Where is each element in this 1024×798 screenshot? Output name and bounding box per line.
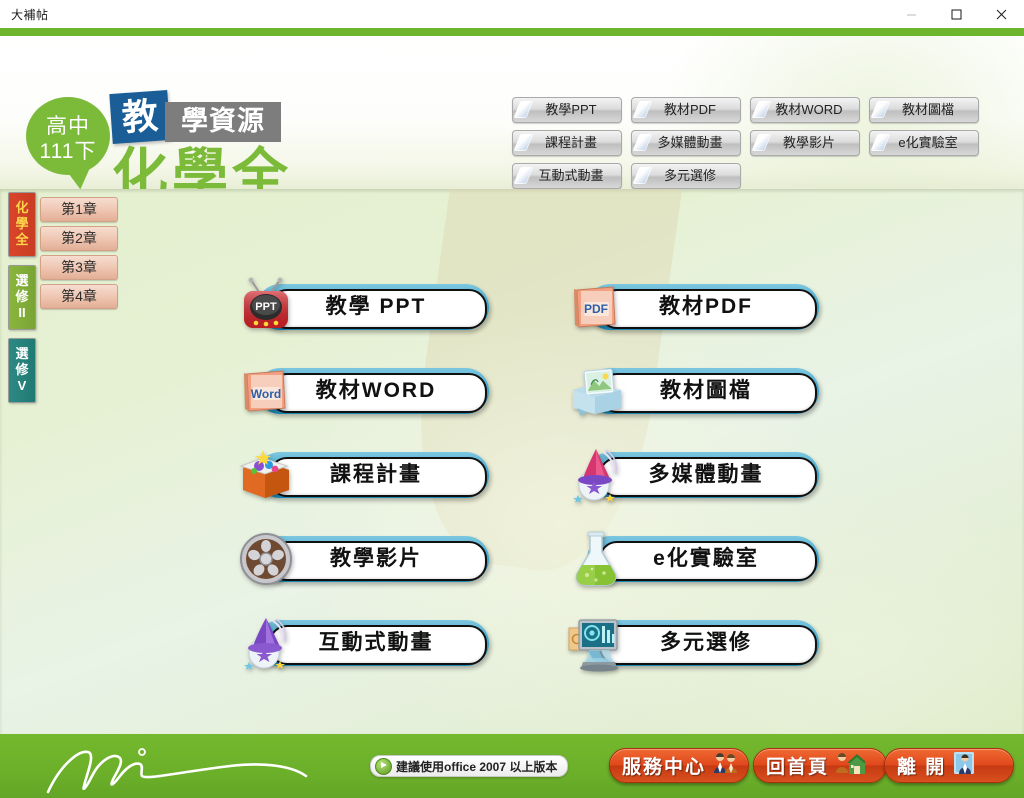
header-chip-teaching-video[interactable]: 教學影片: [750, 130, 860, 156]
menu-label: 教材WORD: [269, 373, 483, 409]
exit-door-icon: [952, 751, 976, 780]
two-people-icon: [712, 751, 738, 780]
film-reel-icon: [235, 528, 297, 590]
chip-slash-icon: [752, 134, 772, 151]
close-icon[interactable]: [979, 0, 1024, 28]
chip-label: e化實驗室: [890, 135, 957, 150]
header-chip-material-pdf[interactable]: 教材PDF: [631, 97, 741, 123]
pdf-book-icon: PDF: [565, 276, 627, 338]
service-center-button[interactable]: 服務中心: [609, 748, 749, 783]
header: 高中 111下 教 學資源 化學全 教學PPT 教材PDF 教材WORD 教材圖…: [0, 36, 1024, 189]
chip-row-3: 互動式動畫 多元選修: [512, 163, 992, 189]
service-center-label: 服務中心: [622, 752, 706, 779]
menu-label: 課程計畫: [269, 457, 483, 493]
house-icon: [835, 751, 865, 780]
image-folder-icon: [565, 360, 627, 422]
sidebar-tab-elective-2[interactable]: 選 修 II: [8, 265, 36, 330]
chip-label: 教材PDF: [656, 102, 716, 117]
chip-slash-icon: [514, 101, 534, 118]
application-window: 大補帖 高中 111下 教 學資源 化學全 教學PPT 教材PDF: [0, 0, 1024, 798]
play-circle-icon: [375, 758, 392, 775]
menu-label: 教材PDF: [599, 289, 813, 325]
header-chip-teaching-ppt[interactable]: 教學PPT: [512, 97, 622, 123]
header-chip-course-plan[interactable]: 課程計畫: [512, 130, 622, 156]
header-chip-multimedia-animation[interactable]: 多媒體動畫: [631, 130, 741, 156]
menu-label: 多媒體動畫: [599, 457, 813, 493]
chip-label: 教材圖檔: [894, 102, 954, 117]
tab-char: 選: [9, 346, 35, 362]
header-chip-interactive-animation[interactable]: 互動式動畫: [512, 163, 622, 189]
window-title: 大補帖: [11, 6, 49, 23]
header-chip-elab[interactable]: e化實驗室: [869, 130, 979, 156]
chip-row-2: 課程計畫 多媒體動畫 教學影片 e化實驗室: [512, 130, 992, 156]
exit-label: 離 開: [897, 752, 946, 779]
grade-bubble-line2: 111下: [26, 135, 110, 165]
tab-char: 化: [9, 200, 35, 216]
page-title: 化學全: [112, 148, 292, 189]
magic-hat-pink-icon: [565, 444, 627, 506]
brand-logo: [30, 736, 330, 798]
ppt-tv-icon: PPT: [235, 276, 297, 338]
main-content: 化 學 全 選 修 II 選 修 V 第1章 第2章 第3章 第4章: [0, 189, 1024, 734]
svg-text:Word: Word: [251, 387, 281, 401]
header-chip-grid: 教學PPT 教材PDF 教材WORD 教材圖檔 課程計畫 多媒體動畫 教學影片 …: [512, 97, 992, 189]
chip-label: 多元選修: [656, 168, 716, 183]
chip-label: 課程計畫: [537, 135, 597, 150]
tab-char: V: [9, 378, 35, 394]
chip-label: 教材WORD: [767, 102, 842, 117]
header-chip-material-images[interactable]: 教材圖檔: [869, 97, 979, 123]
monitor-chart-icon: [565, 612, 627, 674]
chip-row-1: 教學PPT 教材PDF 教材WORD 教材圖檔: [512, 97, 992, 123]
sidebar-tabs: 化 學 全 選 修 II 選 修 V: [8, 192, 36, 411]
home-button[interactable]: 回首頁: [753, 748, 887, 783]
home-label: 回首頁: [766, 752, 829, 779]
chip-label: 互動式動畫: [530, 168, 603, 183]
menu-label: 多元選修: [599, 625, 813, 661]
maximize-icon[interactable]: [934, 0, 979, 28]
window-controls: [889, 0, 1024, 28]
tab-char: 全: [9, 232, 35, 248]
exit-button[interactable]: 離 開: [884, 748, 1014, 783]
sidebar-tab-chemistry-all[interactable]: 化 學 全: [8, 192, 36, 257]
chip-slash-icon: [633, 101, 653, 118]
tab-char: 修: [9, 289, 35, 305]
green-top-rule: [0, 28, 1024, 36]
chapter-button-1[interactable]: 第1章: [40, 197, 118, 222]
treasure-box-icon: [235, 444, 297, 506]
magic-hat-icon: [235, 612, 297, 674]
chapter-button-3[interactable]: 第3章: [40, 255, 118, 280]
header-chip-multi-elective[interactable]: 多元選修: [631, 163, 741, 189]
chip-label: 多媒體動畫: [649, 135, 722, 150]
menu-label: 教學影片: [269, 541, 483, 577]
chapter-list: 第1章 第2章 第3章 第4章: [40, 197, 118, 313]
chip-slash-icon: [633, 167, 653, 184]
chip-slash-icon: [871, 134, 891, 151]
background-glow-right: [600, 489, 1024, 734]
svg-text:PDF: PDF: [584, 302, 608, 316]
tab-char: 修: [9, 362, 35, 378]
minimize-icon[interactable]: [889, 0, 934, 28]
office-note-label: 建議使用office 2007 以上版本: [396, 758, 557, 775]
grade-bubble: 高中 111下: [26, 97, 110, 175]
tab-char: II: [9, 305, 35, 321]
menu-label: e化實驗室: [599, 541, 813, 577]
svg-text:PPT: PPT: [255, 301, 277, 313]
office-version-note: 建議使用office 2007 以上版本: [370, 755, 568, 777]
teach-tag: 教: [109, 90, 170, 144]
word-book-icon: Word: [235, 360, 297, 422]
menu-label: 教材圖檔: [599, 373, 813, 409]
chip-slash-icon: [514, 134, 534, 151]
title-bar: 大補帖: [0, 0, 1024, 29]
menu-label: 互動式動畫: [269, 625, 483, 661]
chapter-button-2[interactable]: 第2章: [40, 226, 118, 251]
chip-slash-icon: [871, 101, 891, 118]
resource-tag: 學資源: [165, 102, 281, 142]
chip-label: 教學PPT: [537, 102, 596, 117]
tab-char: 選: [9, 273, 35, 289]
header-chip-material-word[interactable]: 教材WORD: [750, 97, 860, 123]
chapter-button-4[interactable]: 第4章: [40, 284, 118, 309]
chip-label: 教學影片: [775, 135, 835, 150]
sidebar-tab-elective-5[interactable]: 選 修 V: [8, 338, 36, 403]
tab-char: 學: [9, 216, 35, 232]
menu-label: 教學 PPT: [269, 289, 483, 325]
flask-icon: [565, 528, 627, 590]
